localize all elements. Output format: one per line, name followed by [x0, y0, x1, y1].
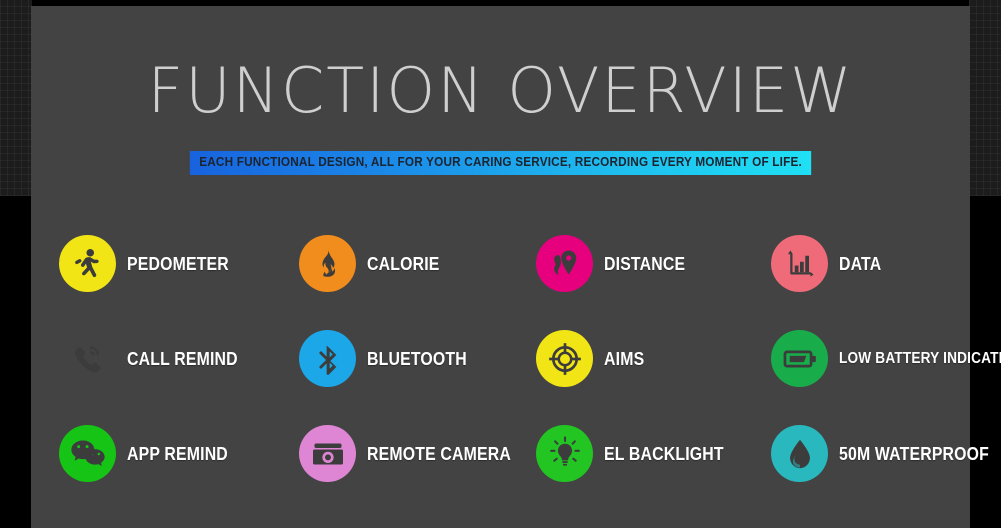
feature-label: LOW BATTERY INDICATION [839, 349, 1001, 369]
camera-icon [299, 425, 356, 482]
feature-item[interactable]: REMOTE CAMERA [299, 406, 536, 501]
bar-chart-icon [771, 235, 828, 292]
phone-handset-icon [59, 330, 116, 387]
feature-item[interactable]: PEDOMETER [59, 216, 299, 311]
feature-item[interactable]: AIMS [536, 311, 771, 406]
crosshair-target-icon [536, 330, 593, 387]
corner-texture-left [0, 0, 32, 196]
feature-label: BLUETOOTH [367, 349, 467, 369]
feature-item[interactable]: LOW BATTERY INDICATION [771, 311, 1001, 406]
feature-label: REMOTE CAMERA [367, 444, 511, 464]
battery-icon [771, 330, 828, 387]
bluetooth-icon [299, 330, 356, 387]
feature-row: CALL REMINDBLUETOOTHAIMSLOW BATTERY INDI… [59, 311, 949, 406]
feature-item[interactable]: 50M WATERPROOF [771, 406, 1001, 501]
feature-label: CALL REMIND [127, 349, 238, 369]
feature-item[interactable]: EL BACKLIGHT [536, 406, 771, 501]
light-bulb-icon [536, 425, 593, 482]
feature-label: APP REMIND [127, 444, 228, 464]
corner-texture-right [969, 0, 1001, 196]
page-root: FUNCTION OVERVIEW EACH FUNCTIONAL DESIGN… [0, 0, 1001, 528]
feature-label: EL BACKLIGHT [604, 444, 724, 464]
feature-label: 50M WATERPROOF [839, 444, 989, 464]
feature-item[interactable]: CALL REMIND [59, 311, 299, 406]
feature-row: APP REMINDREMOTE CAMERAEL BACKLIGHT50M W… [59, 406, 949, 501]
feature-item[interactable]: DATA [771, 216, 949, 311]
page-title: FUNCTION OVERVIEW [31, 58, 970, 124]
feature-item[interactable]: APP REMIND [59, 406, 299, 501]
flame-icon [299, 235, 356, 292]
feature-row: PEDOMETERCALORIEDISTANCEDATA [59, 216, 949, 311]
feature-label: PEDOMETER [127, 254, 229, 274]
feature-label: DISTANCE [604, 254, 685, 274]
subtitle-banner-wrap: EACH FUNCTIONAL DESIGN, ALL FOR YOUR CAR… [31, 151, 970, 175]
feature-item[interactable]: DISTANCE [536, 216, 771, 311]
map-pin-icon [536, 235, 593, 292]
chat-bubbles-icon [59, 425, 116, 482]
content-panel: FUNCTION OVERVIEW EACH FUNCTIONAL DESIGN… [31, 6, 970, 528]
subtitle-banner: EACH FUNCTIONAL DESIGN, ALL FOR YOUR CAR… [190, 151, 811, 175]
feature-label: CALORIE [367, 254, 440, 274]
water-drop-icon [771, 425, 828, 482]
feature-item[interactable]: CALORIE [299, 216, 536, 311]
feature-item[interactable]: BLUETOOTH [299, 311, 536, 406]
running-person-icon [59, 235, 116, 292]
feature-grid: PEDOMETERCALORIEDISTANCEDATA CALL REMIND… [59, 216, 949, 501]
feature-label: AIMS [604, 349, 644, 369]
feature-label: DATA [839, 254, 881, 274]
